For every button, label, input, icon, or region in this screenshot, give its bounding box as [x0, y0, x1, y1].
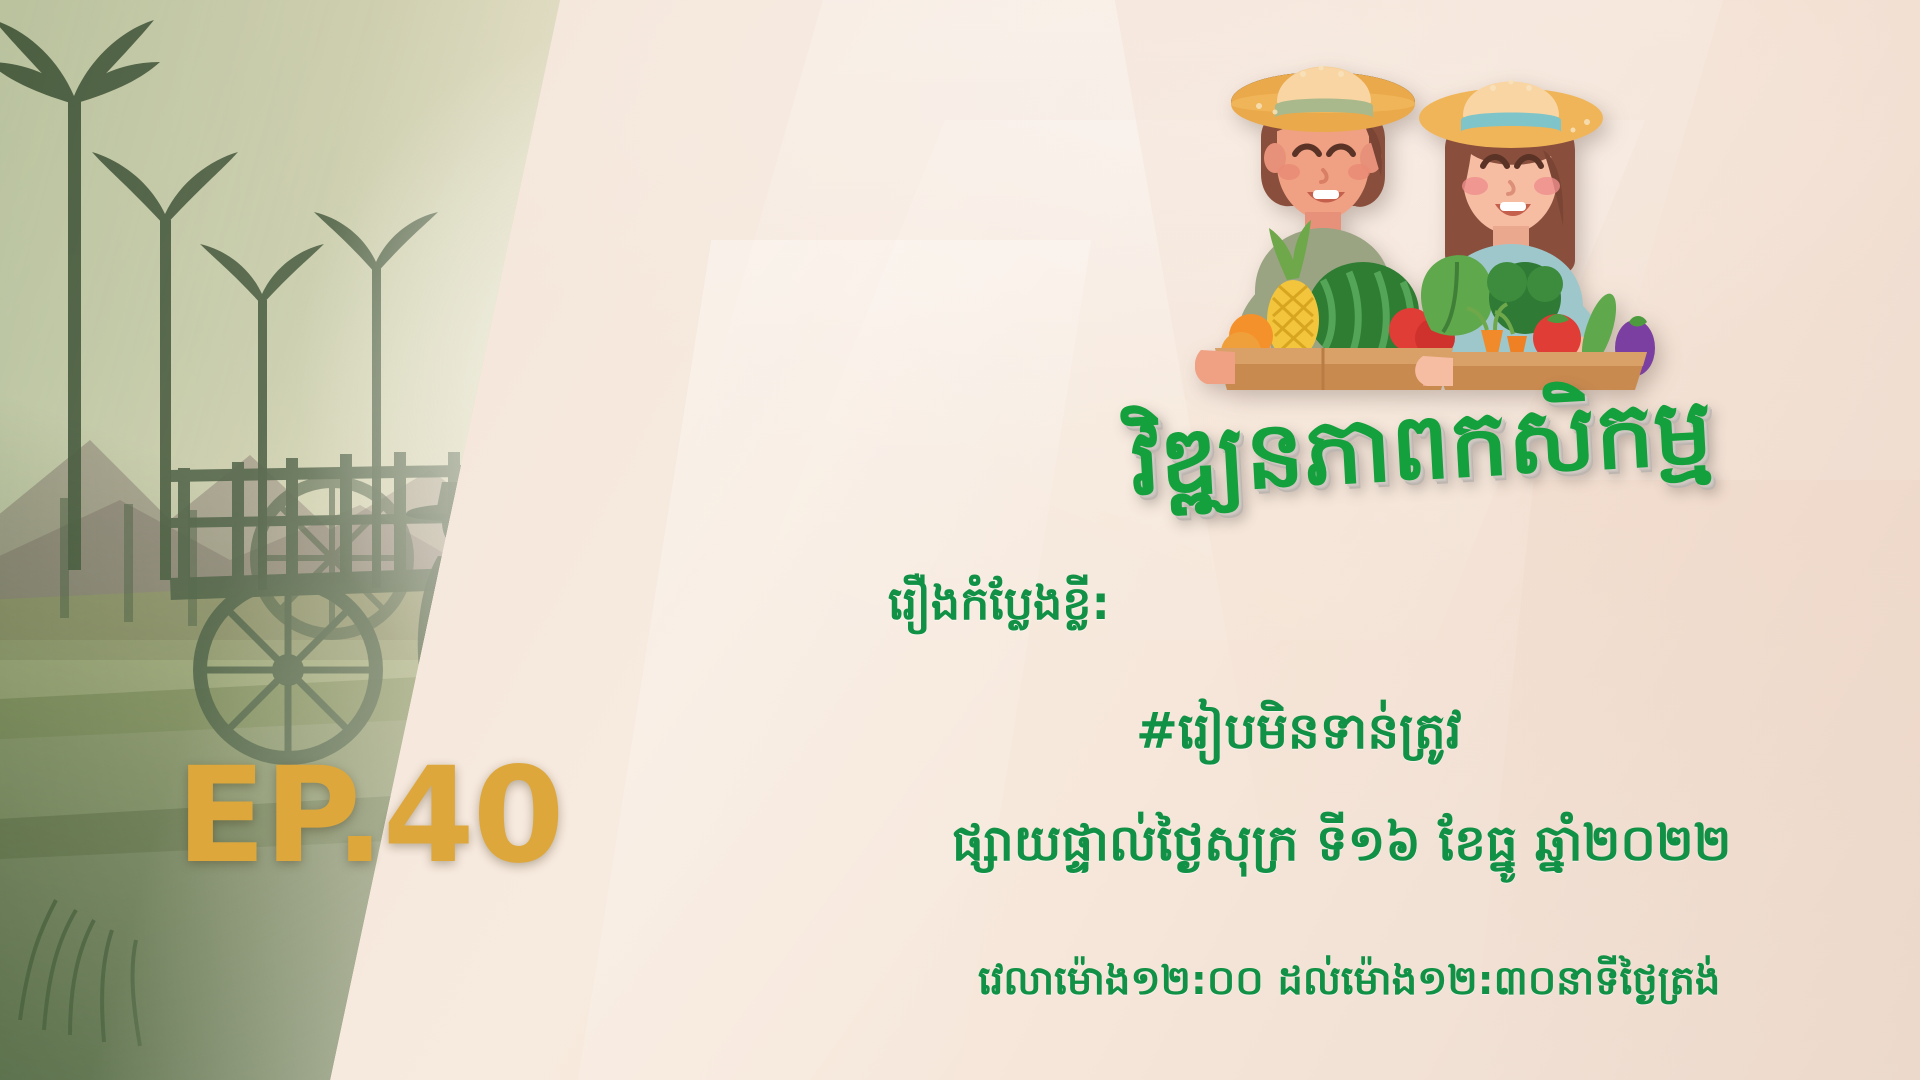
farmers-illustration — [1195, 30, 1675, 390]
poster-canvas: EP.40 — [0, 0, 1920, 1080]
produce-box-right — [1415, 255, 1655, 390]
broadcast-date: ផ្សាយផ្ទាល់ថ្ងៃសុក្រ ទី១៦ ខែធ្នូ ឆ្នាំ២០… — [952, 812, 1732, 885]
episode-label: EP.40 — [176, 750, 563, 882]
broadcast-time: វេលាម៉ោង១២:០០ ដល់ម៉ោង១២:៣០នាទីថ្ងៃត្រង់ — [978, 955, 1720, 1014]
segment-label: រឿងកំប្លែងខ្លី: — [888, 575, 1110, 642]
episode-hashtag: #រៀបមិនទាន់ត្រូវ — [1136, 700, 1462, 773]
